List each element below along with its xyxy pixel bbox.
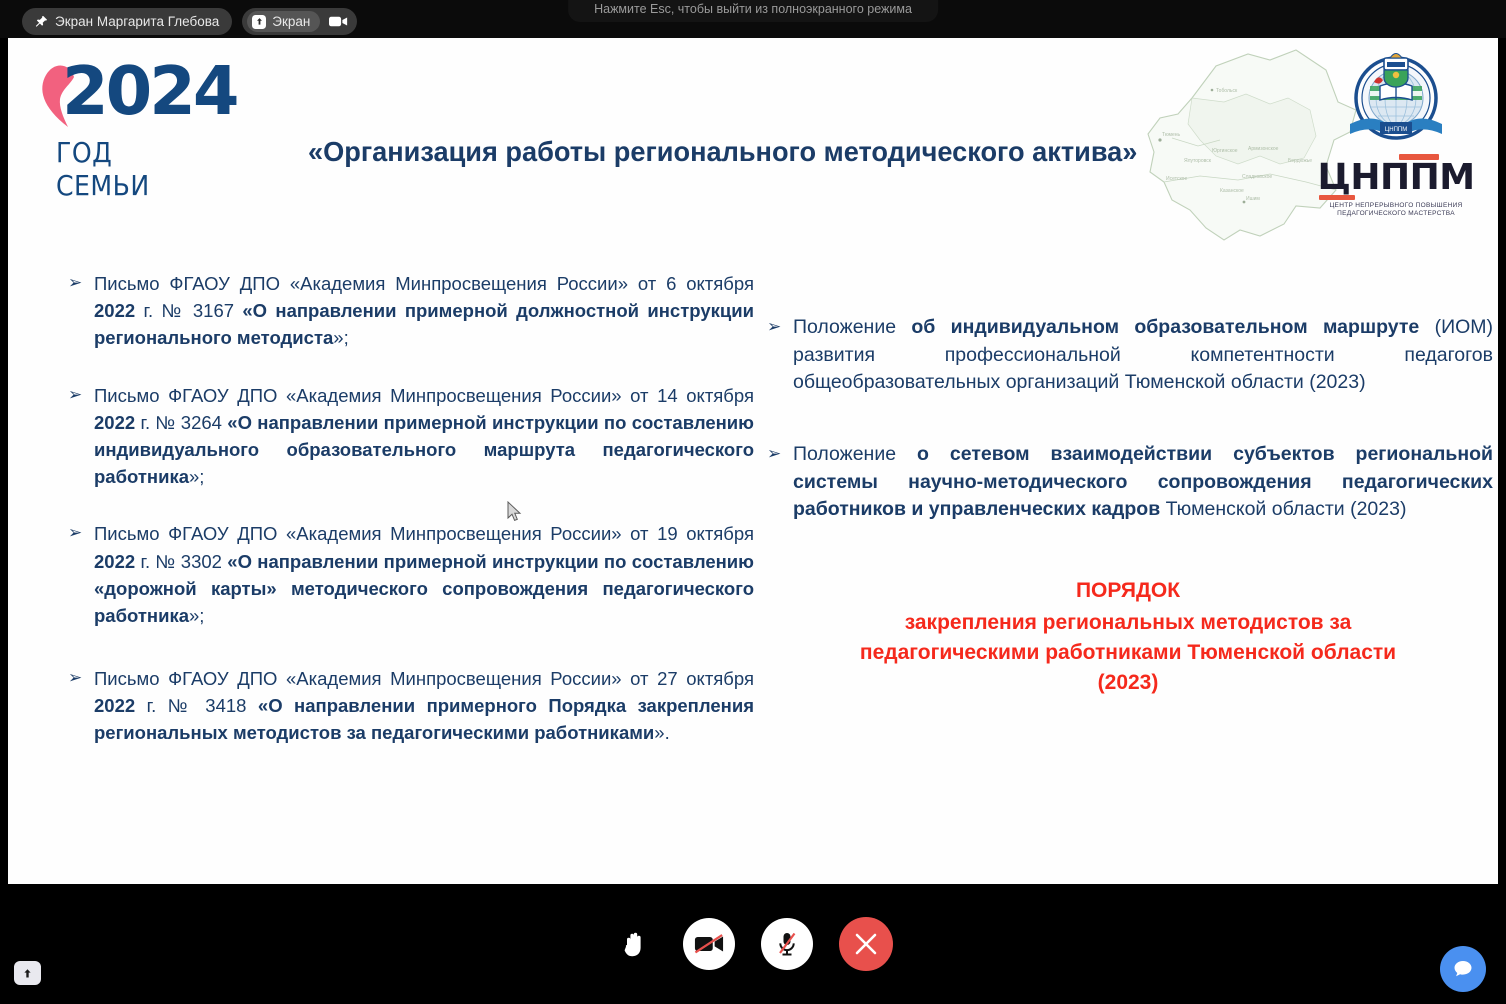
bullet-arrow-icon: ➢	[763, 441, 793, 524]
svg-text:ЦНППМ: ЦНППМ	[1385, 127, 1407, 133]
presenter-pill[interactable]: Экран Маргарита Глебова	[22, 8, 232, 35]
svg-text:Бердюжье: Бердюжье	[1288, 158, 1312, 164]
bullet-arrow-icon: ➢	[64, 382, 94, 491]
order-callout-line-1: закрепления региональных методистов за	[905, 611, 1352, 634]
list-item: ➢ Положение о сетевом взаимодействии суб…	[763, 441, 1493, 524]
order-callout-line-2: педагогическими работниками Тюменской об…	[860, 641, 1396, 664]
list-item: ➢ Письмо ФГАОУ ДПО «Академия Минпросвеще…	[64, 270, 754, 352]
end-call-icon	[854, 932, 878, 956]
meeting-controls-bar	[0, 884, 1506, 1004]
mouse-cursor	[507, 501, 523, 523]
svg-text:Казанское: Казанское	[1220, 188, 1244, 194]
right-bullet-column: ➢ Положение об индивидуальном образовате…	[763, 314, 1493, 697]
svg-text:Сладковское: Сладковское	[1242, 174, 1272, 180]
slide-title: «Организация работы регионального методи…	[308, 136, 1162, 168]
top-bar: Нажмите Esc, чтобы выйти из полноэкранно…	[0, 0, 1506, 38]
screen-share-pill-inner[interactable]: Экран	[247, 11, 320, 32]
list-item-text: Положение об индивидуальном образователь…	[793, 314, 1493, 397]
svg-text:Ишим: Ишим	[1246, 196, 1260, 202]
bullet-arrow-icon: ➢	[64, 665, 94, 747]
share-up-arrow-icon	[22, 968, 33, 979]
order-callout: ПОРЯДОК закрепления региональных методис…	[763, 576, 1493, 697]
list-item-text: Письмо ФГАОУ ДПО «Академия Минпросвещени…	[94, 382, 754, 491]
svg-text:Исетское: Исетское	[1166, 176, 1187, 182]
raise-hand-icon	[622, 930, 648, 958]
microphone-off-icon	[776, 931, 798, 957]
logo-caption: ГОД СЕМЬИ	[56, 136, 208, 202]
order-callout-line-3: (2023)	[1098, 671, 1159, 694]
share-content-button[interactable]	[14, 961, 41, 985]
camera-off-icon	[694, 933, 724, 955]
left-bullet-column: ➢ Письмо ФГАОУ ДПО «Академия Минпросвеще…	[64, 270, 754, 747]
chat-bubble-icon	[1451, 957, 1475, 981]
cnppm-emblem-icon: ЦНППМ	[1340, 46, 1452, 158]
svg-text:Юргинское: Юргинское	[1212, 148, 1238, 154]
logo-year: 2024	[62, 58, 236, 125]
svg-text:Тюмень: Тюмень	[1162, 132, 1181, 138]
share-screen-icon	[252, 15, 266, 29]
list-item-text: Положение о сетевом взаимодействии субъе…	[793, 441, 1493, 524]
chat-button[interactable]	[1440, 946, 1486, 992]
pin-icon	[35, 15, 48, 28]
cnppm-tagline: ЦЕНТР НЕПРЕРЫВНОГО ПОВЫШЕНИЯ ПЕДАГОГИЧЕС…	[1316, 202, 1476, 218]
year-of-family-logo: 2024 ГОД СЕМЬИ	[30, 50, 225, 178]
raise-hand-button[interactable]	[613, 922, 657, 966]
bullet-arrow-icon: ➢	[64, 270, 94, 352]
presentation-slide: ТобольскТюмень ЯлуторовскЮргинское Армиз…	[8, 38, 1498, 884]
esc-hint-toast: Нажмите Esc, чтобы выйти из полноэкранно…	[568, 0, 938, 22]
screen-share-pill[interactable]: Экран	[242, 8, 357, 35]
svg-text:Армизонское: Армизонское	[1248, 146, 1279, 152]
list-item: ➢ Письмо ФГАОУ ДПО «Академия Минпросвеще…	[64, 520, 754, 629]
svg-text:Тобольск: Тобольск	[1216, 88, 1238, 94]
camera-toggle-button[interactable]	[683, 918, 735, 970]
cnppm-logo: ЦНППМ ЦНППМ ЦЕНТР НЕПРЕРЫВНОГО ПОВЫШЕНИЯ…	[1316, 46, 1476, 218]
list-item: ➢ Письмо ФГАОУ ДПО «Академия Минпросвеще…	[64, 382, 754, 491]
cnppm-acronym: ЦНППМ	[1317, 160, 1474, 196]
screen-share-pill-label: Экран	[272, 14, 310, 29]
order-callout-heading: ПОРЯДОК	[763, 576, 1493, 606]
bullet-arrow-icon: ➢	[64, 520, 94, 629]
end-call-button[interactable]	[839, 917, 893, 971]
list-item-text: Письмо ФГАОУ ДПО «Академия Минпросвещени…	[94, 520, 754, 629]
list-item: ➢ Положение об индивидуальном образовате…	[763, 314, 1493, 397]
camera-icon[interactable]	[329, 15, 348, 28]
svg-text:Ялуторовск: Ялуторовск	[1184, 158, 1212, 164]
presenter-pill-row: Экран Маргарита Глебова Экран	[22, 8, 357, 35]
bullet-arrow-icon: ➢	[763, 314, 793, 397]
list-item: ➢ Письмо ФГАОУ ДПО «Академия Минпросвеще…	[64, 665, 754, 747]
list-item-text: Письмо ФГАОУ ДПО «Академия Минпросвещени…	[94, 270, 754, 352]
center-controls	[613, 884, 893, 1004]
list-item-text: Письмо ФГАОУ ДПО «Академия Минпросвещени…	[94, 665, 754, 747]
microphone-toggle-button[interactable]	[761, 918, 813, 970]
screen-share-fullscreen: Нажмите Esc, чтобы выйти из полноэкранно…	[0, 0, 1506, 1004]
presenter-pill-label: Экран Маргарита Глебова	[55, 14, 219, 29]
